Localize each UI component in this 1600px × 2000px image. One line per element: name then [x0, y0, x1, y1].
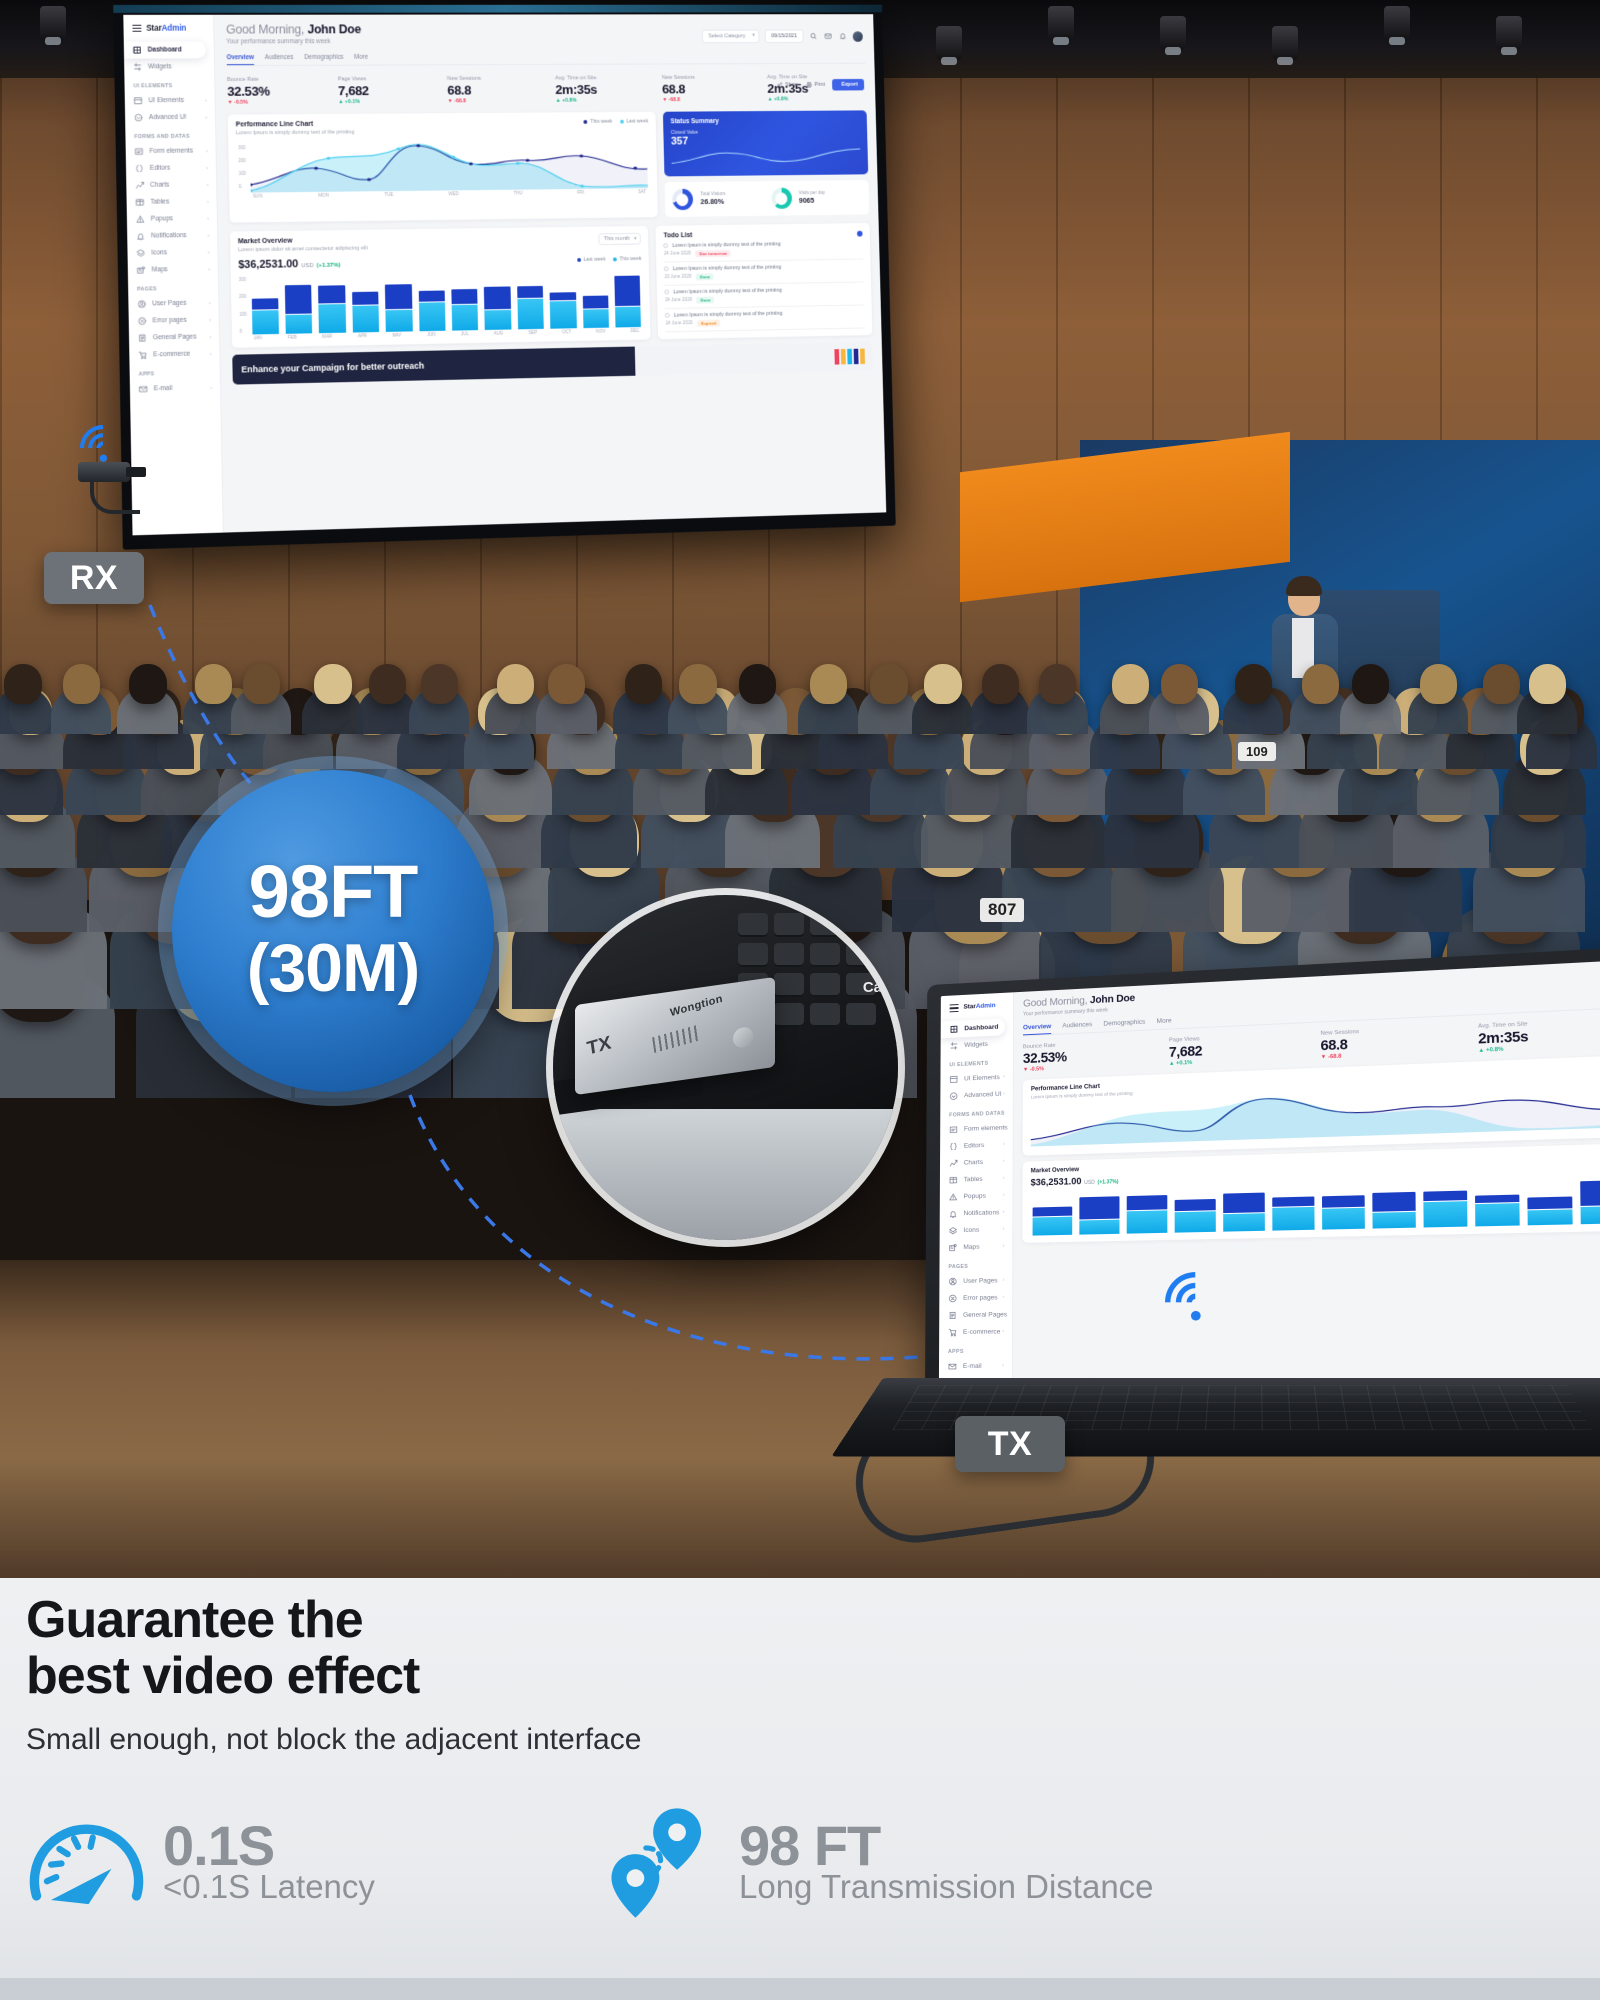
bar-last-week	[1175, 1199, 1216, 1211]
dashboard-tabs[interactable]: OverviewAudiencesDemographicsMore	[227, 52, 866, 66]
keycap	[810, 943, 840, 967]
sidebar-nav-list[interactable]: DashboardWidgetsUI ELEMENTSUI Elements›A…	[124, 41, 220, 397]
stat-card: Avg. Time on Site2m:35s▲ +0.8%	[1478, 1016, 1600, 1054]
promo-decoration	[834, 349, 865, 365]
bar-this-week	[1322, 1208, 1365, 1229]
stat-value: 68.8	[447, 82, 550, 97]
share-label: Share	[785, 82, 799, 88]
circle-icon	[949, 1091, 958, 1100]
todo-text: Lorem Ipsum is simply dummy text of the …	[672, 242, 781, 249]
laptop-main: Good Morning, John Doe Your performance …	[1013, 959, 1600, 1385]
bar-last-week	[285, 285, 312, 314]
bar-last-week	[582, 295, 608, 309]
bar-last-week	[550, 292, 576, 301]
map-icon	[948, 1243, 957, 1252]
stage-light	[1048, 6, 1074, 40]
chevron-right-icon: ›	[209, 300, 211, 306]
hamburger-menu-icon[interactable]	[950, 1004, 959, 1012]
x-tick: TUE	[384, 192, 393, 197]
keycap	[846, 943, 876, 967]
bar-last-week	[318, 285, 345, 304]
status-summary-value: 357	[671, 134, 860, 147]
stat-delta: ▼ -0.5%	[227, 99, 332, 106]
error-icon	[138, 317, 147, 326]
x-tick: JAN	[253, 335, 262, 340]
stage-light	[936, 26, 962, 60]
bar-group	[1175, 1186, 1216, 1232]
bar-group	[1127, 1187, 1168, 1233]
status-summary-title: Status Summary	[671, 117, 860, 125]
dashboard-main: Good Morning, John Doe Your performance …	[214, 14, 886, 532]
promo-banner[interactable]: Enhance your Campaign for better outreac…	[232, 342, 873, 385]
tab-audiences[interactable]: Audiences	[265, 54, 294, 65]
sidebar-item-dashboard[interactable]: Dashboard	[124, 41, 206, 58]
chevron-right-icon: ›	[1003, 1278, 1005, 1284]
rx-receiver-device	[78, 452, 146, 490]
chevron-right-icon: ›	[210, 334, 212, 340]
form-icon	[949, 1125, 958, 1134]
chevron-right-icon: ›	[1003, 1210, 1005, 1216]
sidebar-item-user-pages[interactable]: User Pages›	[939, 1272, 1012, 1290]
todo-text: Lorem Ipsum is simply dummy text of the …	[673, 265, 782, 273]
audience-member	[870, 664, 907, 704]
stat-delta: ▼ -68.8	[662, 97, 762, 103]
performance-line-chart-card: Performance Line Chart Lorem Ipsum is si…	[228, 112, 658, 223]
screen-surface: StarAdmin DashboardWidgetsUI ELEMENTSUI …	[123, 14, 886, 535]
sidebar-item-label: Charts	[964, 1159, 983, 1167]
sidebar-section-apps: APPS	[939, 1340, 1012, 1357]
audience-member	[314, 664, 351, 704]
sidebar-item-form-elements[interactable]: Form elements›	[126, 142, 216, 160]
sidebar-section-forms-and-datas: FORMS AND DATAS	[125, 126, 215, 144]
sidebar-item-icons[interactable]: Icons›	[940, 1221, 1013, 1240]
sidebar-item-label: UI Elements	[964, 1074, 1000, 1082]
bar-this-week	[485, 310, 512, 329]
stat-value: 68.8	[662, 81, 762, 96]
bottom-strip	[0, 1978, 1600, 2000]
table-icon	[135, 198, 144, 207]
bar-this-week	[452, 305, 479, 330]
sidebar-item-notifications[interactable]: Notifications›	[940, 1204, 1013, 1223]
device-brand-label: Wongtion	[669, 993, 723, 1019]
bar-group	[285, 275, 313, 333]
audience-member	[497, 664, 534, 704]
chevron-right-icon: ›	[1003, 1125, 1005, 1131]
sidebar-item-charts[interactable]: Charts›	[126, 176, 216, 194]
sidebar-item-label: Maps	[152, 266, 168, 273]
bell-icon[interactable]	[838, 31, 847, 41]
audience-member	[1352, 664, 1389, 704]
alert-icon	[136, 215, 145, 224]
todo-date: 24 June 2020	[664, 252, 691, 257]
audience-member	[129, 664, 166, 704]
stat-value: 32.53%	[227, 83, 332, 98]
sidebar-item-label: User Pages	[963, 1277, 997, 1285]
bar-last-week	[1527, 1197, 1572, 1209]
audience-member	[1161, 664, 1198, 704]
x-tick: MAY	[392, 332, 401, 337]
sidebar-item-label: Dashboard	[148, 46, 182, 53]
x-tick: APR	[358, 333, 367, 338]
chevron-right-icon: ›	[208, 232, 210, 238]
sidebar-item-user-pages[interactable]: User Pages›	[128, 294, 218, 313]
todo-title: Todo List	[663, 232, 692, 239]
bar-group	[1527, 1177, 1572, 1225]
latency-label: <0.1S Latency	[163, 1868, 375, 1906]
x-tick: SUN	[253, 193, 263, 198]
avatar[interactable]	[853, 31, 863, 41]
bar-this-week	[319, 304, 346, 332]
tab-demographics[interactable]: Demographics	[1103, 1019, 1145, 1032]
todo-item[interactable]: Lorem Ipsum is simply dummy text of the …	[664, 237, 864, 263]
audience-member	[810, 664, 847, 704]
total-visitors-donut	[672, 189, 693, 210]
audience-member	[421, 664, 458, 704]
bar-last-week	[1127, 1195, 1168, 1210]
bar-last-week	[1372, 1192, 1415, 1212]
stat-value: 2m:35s	[555, 82, 656, 97]
share-button[interactable]: Share	[777, 82, 799, 88]
stage-light	[40, 6, 66, 40]
stat-label: New Sessions	[662, 75, 762, 81]
sidebar-item-popups[interactable]: Popups›	[940, 1187, 1013, 1206]
sidebar-nav-list-laptop[interactable]: DashboardWidgetsUI ELEMENTSUI Elements›A…	[939, 1018, 1013, 1375]
sidebar-item-label: UI Elements	[149, 97, 185, 104]
chevron-right-icon: ›	[207, 215, 209, 221]
bar-group	[1079, 1189, 1119, 1234]
brand-name: StarAdmin	[146, 24, 186, 33]
todo-text: Lorem Ipsum is simply dummy text of the …	[673, 288, 782, 296]
sidebar-item-label: Charts	[150, 182, 169, 189]
chevron-right-icon: ›	[1003, 1142, 1005, 1148]
bar-this-week	[1079, 1219, 1119, 1234]
device-button	[732, 1025, 755, 1050]
sidebar-item-popups[interactable]: Popups›	[127, 210, 217, 228]
audience-member	[1235, 664, 1272, 704]
export-button[interactable]: Export	[832, 79, 864, 91]
projection-screen: StarAdmin DashboardWidgetsUI ELEMENTSUI …	[113, 5, 896, 550]
dashboard-actions[interactable]: Share Print Export	[777, 79, 864, 91]
audience-member	[924, 664, 961, 704]
chevron-right-icon: ›	[209, 317, 211, 323]
keycap	[774, 973, 804, 997]
chevron-right-icon: ›	[205, 114, 207, 120]
stat-delta: ▲ +0.1%	[338, 99, 442, 105]
keycap	[810, 913, 840, 937]
sidebar-item-charts[interactable]: Charts›	[940, 1153, 1013, 1172]
print-button[interactable]: Print	[806, 82, 825, 88]
todo-checkbox[interactable]	[664, 266, 669, 271]
distance-label: Long Transmission Distance	[739, 1868, 1154, 1906]
sidebar-item-tables[interactable]: Tables›	[126, 193, 216, 211]
audience-member	[1529, 664, 1566, 704]
circle-icon	[134, 113, 143, 122]
bar-group	[251, 276, 279, 334]
bar-group	[517, 272, 544, 329]
stat-card: Bounce Rate32.53%▼ -0.5%	[227, 77, 333, 106]
chevron-right-icon: ›	[1003, 1244, 1005, 1250]
headline-line-2: best video effect	[26, 1647, 419, 1705]
audience-member	[625, 664, 662, 704]
x-tick: FRI	[577, 189, 584, 194]
tab-audiences[interactable]: Audiences	[1062, 1021, 1092, 1033]
bar-this-week	[1175, 1211, 1216, 1232]
donut-value: 26.80%	[700, 197, 764, 206]
sidebar-item-icons[interactable]: Icons›	[127, 244, 217, 262]
sidebar-item-label: Error pages	[153, 317, 187, 325]
sidebar-item-maps[interactable]: Maps›	[128, 261, 218, 279]
location-pin-icon	[600, 1800, 725, 1925]
error-icon	[948, 1294, 957, 1303]
line-chart-y-axis: 3002001000	[238, 145, 246, 189]
bar-this-week	[550, 301, 577, 328]
layers-icon	[949, 1226, 958, 1235]
tab-overview[interactable]: Overview	[1023, 1023, 1051, 1035]
market-overview-card: Market Overview Lorem ipsum dolor sit am…	[230, 226, 651, 348]
stat-value: 7,682	[338, 83, 442, 98]
x-tick: NOV	[596, 328, 606, 333]
chevron-right-icon: ›	[1002, 1329, 1004, 1335]
sidebar-item-error-pages[interactable]: Error pages›	[129, 311, 219, 330]
bar-this-week	[1223, 1214, 1265, 1232]
audience-member	[1302, 664, 1339, 704]
chevron-right-icon: ›	[207, 182, 209, 188]
sidebar-item-maps[interactable]: Maps›	[940, 1238, 1013, 1256]
chevron-right-icon: ›	[210, 385, 212, 391]
line-chart-title: Performance Line Chart	[236, 121, 354, 129]
key-label-tab: Tab	[854, 925, 880, 942]
sidebar-item-e-commerce[interactable]: E-commerce›	[129, 345, 219, 364]
tab-overview[interactable]: Overview	[227, 54, 255, 65]
sidebar-item-label: Tables	[964, 1176, 983, 1183]
audience-member	[195, 664, 232, 704]
banner-subheadline: Small enough, not block the adjacent int…	[26, 1723, 641, 1757]
sidebar-item-ui-elements[interactable]: UI Elements›	[125, 92, 215, 109]
sidebar-item-advanced-ui[interactable]: Advanced UI›	[940, 1085, 1013, 1105]
todo-list-card: Todo List Lorem Ipsum is simply dummy te…	[656, 223, 873, 339]
sidebar-section-ui-elements: UI ELEMENTS	[124, 75, 214, 92]
sidebar-section-apps: APPS	[130, 362, 220, 381]
bar-group	[1272, 1183, 1314, 1230]
y-tick: 100	[239, 312, 247, 317]
bar-this-week	[285, 315, 312, 334]
bar-this-week	[1581, 1206, 1600, 1224]
sidebar-item-e-mail[interactable]: E-mail›	[939, 1358, 1012, 1375]
audience-member	[1039, 664, 1076, 704]
banner-headline: Guarantee the best video effect	[26, 1592, 419, 1704]
x-tick: SAT	[638, 189, 646, 194]
line-chart-card-laptop: Performance Line Chart Lorem Ipsum is si…	[1023, 1055, 1600, 1155]
bar-last-week	[484, 286, 511, 309]
bar-group	[1475, 1178, 1520, 1226]
sidebar-item-general-pages[interactable]: General Pages›	[939, 1306, 1012, 1324]
bar-last-week	[451, 289, 478, 305]
bar-last-week	[614, 276, 640, 306]
sidebar-item-general-pages[interactable]: General Pages›	[129, 328, 219, 347]
bar-last-week	[1322, 1195, 1365, 1208]
chevron-right-icon: ›	[1003, 1074, 1005, 1080]
sidebar-item-widgets[interactable]: Widgets	[941, 1035, 1013, 1055]
chevron-right-icon: ›	[208, 266, 210, 272]
sidebar-item-label: E-mail	[963, 1363, 982, 1370]
sidebar-item-label: General Pages	[963, 1311, 1007, 1318]
bar-this-week	[386, 310, 413, 331]
bar-this-week	[252, 310, 279, 334]
mail-icon[interactable]	[823, 31, 832, 41]
line-chart-legend: This week Last week	[584, 119, 649, 125]
x-tick: MAR	[322, 333, 332, 338]
bar-last-week	[1423, 1191, 1467, 1201]
todo-checkbox[interactable]	[665, 290, 670, 295]
bar-last-week	[251, 298, 278, 310]
market-card-laptop: Market Overview $36,2531.00 USD (+1.37%)	[1022, 1143, 1600, 1243]
market-bars	[249, 270, 643, 334]
legend-label: This week	[620, 256, 642, 262]
stat-card: Avg. Time on Site2m:35s▲ +0.8%	[555, 75, 657, 104]
chevron-right-icon: ›	[1002, 1363, 1004, 1369]
todo-date: 24 June 2020	[665, 321, 692, 326]
bar-this-week	[352, 306, 379, 332]
chevron-right-icon: ›	[208, 249, 210, 255]
y-tick: 200	[238, 158, 246, 163]
headline-line-1: Guarantee the	[26, 1591, 363, 1649]
charts-row: Performance Line Chart Lorem Ipsum is si…	[228, 110, 870, 222]
sidebar-item-label: E-mail	[154, 385, 173, 392]
bar-group	[1580, 1175, 1600, 1223]
sidebar-item-label: General Pages	[153, 334, 197, 342]
hamburger-menu-icon[interactable]	[132, 24, 141, 32]
chevron-right-icon: ›	[206, 165, 208, 171]
y-tick: 0	[240, 329, 248, 334]
todo-items[interactable]: Lorem Ipsum is simply dummy text of the …	[664, 237, 865, 333]
sidebar-item-label: Icons	[151, 249, 167, 256]
category-select[interactable]: Select Category	[702, 30, 760, 44]
braces-icon	[949, 1142, 958, 1151]
cart-icon	[948, 1328, 957, 1337]
market-title: Market Overview	[238, 237, 368, 246]
sidebar-item-tables[interactable]: Tables›	[940, 1170, 1013, 1189]
bar-group	[385, 274, 413, 332]
tab-more[interactable]: More	[1157, 1017, 1172, 1029]
alert-icon	[949, 1192, 958, 1201]
legend-label: Last week	[583, 256, 605, 262]
stage-light	[1160, 16, 1186, 50]
y-tick: 200	[239, 294, 247, 299]
tab-more[interactable]: More	[354, 54, 368, 65]
brand-name: StarAdmin	[963, 1003, 995, 1012]
sidebar-item-label: Widgets	[148, 63, 172, 70]
market-range-select[interactable]: This month	[598, 233, 641, 245]
brand-logo[interactable]: StarAdmin	[123, 22, 213, 42]
market-subtitle: Lorem ipsum dolor sit amet consectetur a…	[238, 245, 368, 253]
seat-number: 109	[1238, 742, 1276, 761]
user-icon	[948, 1277, 957, 1286]
mail-icon	[139, 384, 148, 393]
sidebar-item-e-commerce[interactable]: E-commerce›	[939, 1323, 1012, 1341]
market-y-axis: 3002001000	[239, 276, 248, 334]
chevron-right-icon: ›	[206, 148, 208, 154]
chevron-right-icon: ›	[210, 351, 212, 357]
status-summary-card: Status Summary Closed Value 357	[663, 110, 868, 176]
donut-value: 9065	[799, 195, 862, 204]
todo-add-icon[interactable]	[857, 230, 863, 236]
bar-last-week	[1475, 1195, 1519, 1203]
sidebar-item-label: Editors	[964, 1142, 984, 1150]
conference-room-photo: 807 109 StarAdmin DashboardWidgetsUI ELE…	[0, 0, 1600, 1590]
sidebar-item-label: Popups	[151, 215, 173, 222]
bar-group	[1033, 1190, 1073, 1235]
bar-last-week	[517, 286, 543, 298]
stat-delta: ▲ +0.8%	[768, 96, 867, 102]
audience-member	[1483, 664, 1520, 704]
sidebar-item-error-pages[interactable]: Error pages›	[939, 1289, 1012, 1307]
dashboard-app-laptop: StarAdmin DashboardWidgetsUI ELEMENTSUI …	[939, 959, 1600, 1385]
audience-member	[243, 664, 280, 704]
legend-label: This week	[590, 119, 612, 125]
stat-card: New Sessions68.8▼ -68.8	[1320, 1024, 1471, 1061]
bar-this-week	[583, 309, 609, 327]
ui-icon	[949, 1075, 958, 1084]
sidebar-item-widgets[interactable]: Widgets	[124, 58, 214, 75]
braces-icon	[135, 164, 144, 173]
search-icon[interactable]	[809, 31, 818, 41]
sidebar-item-notifications[interactable]: Notifications›	[127, 227, 217, 245]
stat-label: Page Views	[338, 76, 442, 82]
bar-group	[614, 270, 641, 327]
sidebar-item-label: Form elements	[149, 148, 193, 155]
todo-item[interactable]: Lorem Ipsum is simply dummy text of the …	[664, 259, 864, 285]
x-tick: MON	[318, 192, 329, 197]
sidebar-item-label: Form elements	[964, 1124, 1008, 1132]
stat-card: New Sessions68.8▼ -68.8	[662, 75, 762, 103]
todo-status-badge: Expired	[697, 320, 720, 327]
stage-light	[1496, 16, 1522, 50]
date-range-picker[interactable]: 09/15/2021	[765, 30, 804, 43]
todo-item[interactable]: Lorem Ipsum is simply dummy text of the …	[665, 305, 865, 332]
todo-checkbox[interactable]	[665, 313, 670, 318]
tx-badge: TX	[955, 1416, 1065, 1472]
bar-group	[418, 273, 446, 330]
keycap	[738, 943, 768, 967]
export-label: Export	[841, 82, 857, 88]
stat-label: Avg. Time on Site	[555, 75, 656, 81]
dashboard-topbar[interactable]: Select Category 09/15/2021	[702, 29, 863, 43]
todo-date: 24 June 2020	[665, 298, 692, 303]
bar-group	[1322, 1182, 1365, 1229]
sidebar-item-e-mail[interactable]: E-mail›	[130, 379, 220, 398]
bar-last-week	[385, 284, 412, 309]
status-column: Status Summary Closed Value 357 T	[663, 110, 869, 217]
sidebar-item-editors[interactable]: Editors›	[126, 159, 216, 177]
sidebar-item-advanced-ui[interactable]: Advanced UI›	[125, 109, 215, 126]
todo-text: Lorem Ipsum is simply dummy text of the …	[674, 311, 783, 319]
bar-last-week	[1033, 1207, 1073, 1217]
bar-this-week	[1127, 1211, 1168, 1234]
marketing-banner: Guarantee the best video effect Small en…	[0, 1578, 1600, 2000]
chevron-right-icon: ›	[1003, 1091, 1005, 1097]
bar-last-week	[1079, 1196, 1119, 1219]
todo-checkbox[interactable]	[664, 243, 669, 248]
keycap	[810, 1003, 840, 1027]
stat-cards-row: Bounce Rate32.53%▼ -0.5%Page Views7,682▲…	[227, 74, 866, 106]
x-tick: JUL	[461, 331, 469, 336]
audience-member	[739, 664, 776, 704]
tab-demographics[interactable]: Demographics	[304, 54, 344, 65]
laptop-sidebar[interactable]: StarAdmin DashboardWidgetsUI ELEMENTSUI …	[939, 992, 1014, 1385]
promo-text: Enhance your Campaign for better outreac…	[241, 361, 424, 375]
layers-icon	[136, 249, 145, 258]
device-vents	[652, 1025, 700, 1053]
